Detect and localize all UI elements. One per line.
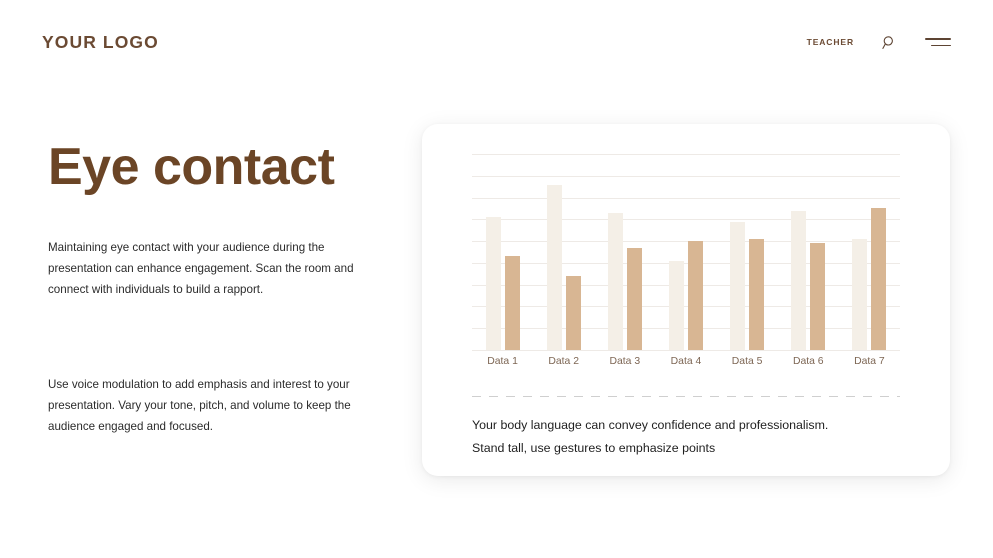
- chart-bars: [472, 154, 900, 350]
- bar-group: [472, 154, 533, 350]
- bar[interactable]: [871, 208, 886, 350]
- x-axis-label: Data 6: [778, 356, 839, 367]
- bar-group: [778, 154, 839, 350]
- bar[interactable]: [566, 276, 581, 350]
- header-actions: TEACHER: [807, 35, 951, 50]
- bar[interactable]: [730, 222, 745, 350]
- search-icon[interactable]: [882, 35, 897, 50]
- x-axis-label: Data 1: [472, 356, 533, 367]
- hamburger-menu-icon[interactable]: [925, 38, 951, 46]
- bar[interactable]: [486, 217, 501, 350]
- bar[interactable]: [669, 261, 684, 350]
- x-axis-label: Data 2: [533, 356, 594, 367]
- bar[interactable]: [791, 211, 806, 350]
- hamburger-menu-lines: [925, 38, 951, 46]
- paragraph-two: Use voice modulation to add emphasis and…: [48, 374, 370, 437]
- left-content-column: Eye contact Maintaining eye contact with…: [48, 140, 388, 437]
- bar-chart: [472, 154, 900, 350]
- brand-logo[interactable]: YOUR LOGO: [42, 32, 159, 53]
- bar-group: [655, 154, 716, 350]
- page-title: Eye contact: [48, 140, 388, 195]
- caption-line-1: Your body language can convey confidence…: [472, 414, 912, 437]
- bar[interactable]: [852, 239, 867, 350]
- bar[interactable]: [749, 239, 764, 350]
- gridline: [472, 350, 900, 351]
- bar-group: [594, 154, 655, 350]
- bar[interactable]: [505, 256, 520, 350]
- x-axis-label: Data 3: [594, 356, 655, 367]
- bar[interactable]: [547, 185, 562, 351]
- x-axis-label: Data 5: [717, 356, 778, 367]
- caption-line-2: Stand tall, use gestures to emphasize po…: [472, 437, 912, 460]
- x-axis-label: Data 4: [655, 356, 716, 367]
- x-axis-label: Data 7: [839, 356, 900, 367]
- bar[interactable]: [627, 248, 642, 350]
- bar-group: [839, 154, 900, 350]
- nav-link-teacher[interactable]: TEACHER: [807, 37, 854, 47]
- paragraph-one: Maintaining eye contact with your audien…: [48, 237, 370, 300]
- bar-group: [717, 154, 778, 350]
- bar[interactable]: [810, 243, 825, 350]
- bar[interactable]: [608, 213, 623, 350]
- card-dashed-divider: [472, 396, 900, 397]
- chart-x-axis-labels: Data 1Data 2Data 3Data 4Data 5Data 6Data…: [472, 356, 900, 367]
- presentation-slide: YOUR LOGO TEACHER Eye contact Maintainin…: [0, 0, 993, 558]
- card-caption: Your body language can convey confidence…: [472, 414, 912, 460]
- chart-card: Data 1Data 2Data 3Data 4Data 5Data 6Data…: [422, 124, 950, 476]
- bar-group: [533, 154, 594, 350]
- bar[interactable]: [688, 241, 703, 350]
- page-header: YOUR LOGO TEACHER: [0, 0, 993, 84]
